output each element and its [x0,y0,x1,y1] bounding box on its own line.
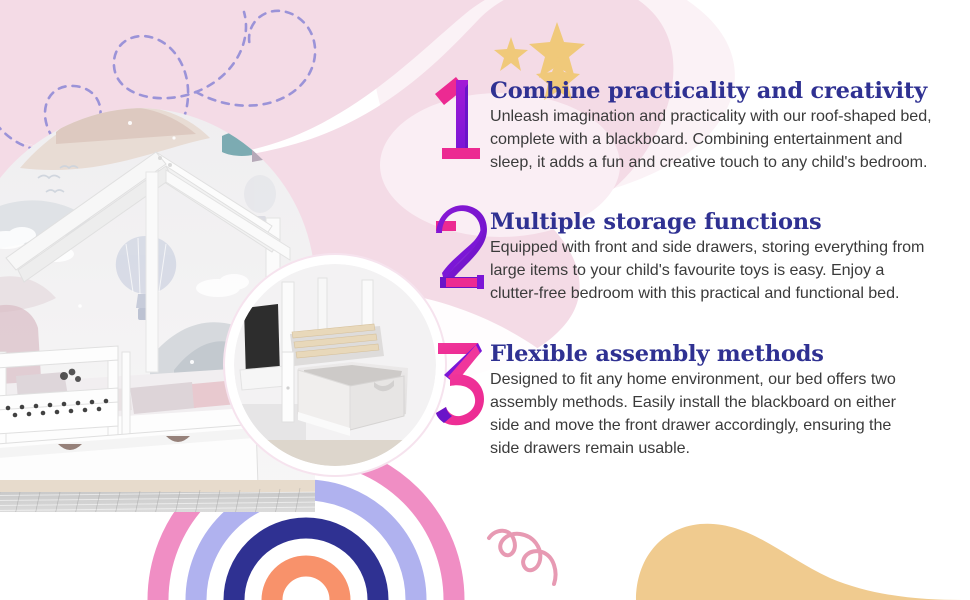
infographic-canvas: Combine practicality and creativity Unle… [0,0,970,600]
feature-body-1-line-3: sleep, it adds a fun and creative touch … [490,151,970,174]
feature-body-2-line-1: Equipped with front and side drawers, st… [490,236,970,259]
feature-body-3-line-2: assembly methods. Easily install the bla… [490,391,970,414]
drawer-detail-photo [234,264,436,466]
feature-body-3-line-3: side and move the front drawer according… [490,414,970,437]
feature-number-2-icon [432,205,488,297]
feature-body-2: Equipped with front and side drawers, st… [490,236,970,305]
feature-body-1-line-1: Unleash imagination and practicality wit… [490,105,970,128]
feature-list: Combine practicality and creativity Unle… [432,78,970,460]
feature-body-2-line-3: clutter-free bedroom with this practical… [490,282,970,305]
feature-title-2: Multiple storage functions [490,209,970,235]
feature-item-1: Combine practicality and creativity Unle… [432,78,970,174]
feature-body-1-line-2: complete with a blackboard. Combining en… [490,128,970,151]
feature-title-3: Flexible assembly methods [490,341,970,367]
tan-hill-shape [636,524,962,600]
feature-body-3: Designed to fit any home environment, ou… [490,368,970,460]
feature-item-2: Multiple storage functions Equipped with… [432,209,970,305]
feature-body-3-line-1: Designed to fit any home environment, ou… [490,368,970,391]
feature-body-1: Unleash imagination and practicality wit… [490,105,970,174]
feature-item-3: Flexible assembly methods Designed to fi… [432,341,970,460]
feature-body-3-line-4: side drawers remain usable. [490,437,970,460]
feature-number-1-icon [432,74,488,166]
feature-number-3-icon [432,337,488,429]
feature-body-2-line-2: large items to your child's favourite to… [490,259,970,282]
feature-title-1: Combine practicality and creativity [490,78,970,104]
